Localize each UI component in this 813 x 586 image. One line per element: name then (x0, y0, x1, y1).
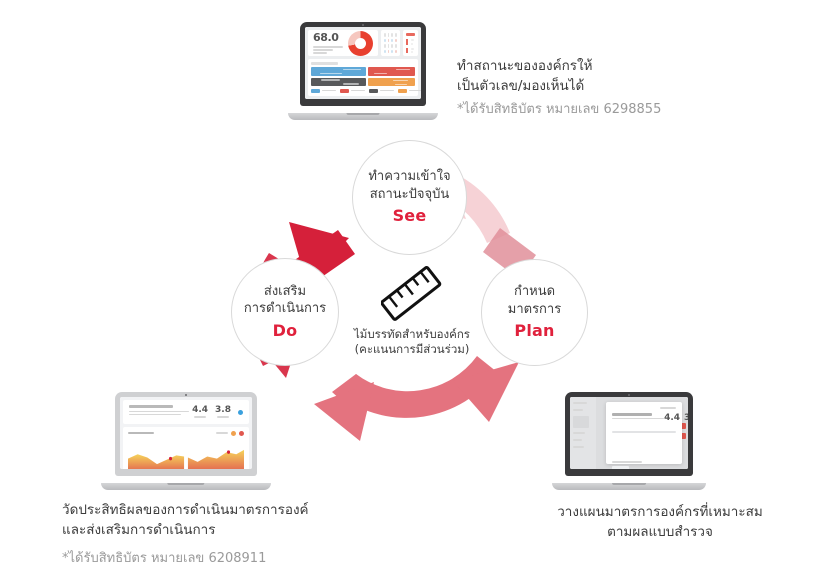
metric-value: 4.4 (192, 405, 208, 415)
caption-bottom-right: วางแผนมาตรการองค์กรที่เหมาะสม ตามผลแบบสำ… (520, 503, 800, 542)
cycle-node-see[interactable]: ทำความเข้าใจ สถานะปัจจุบัน See (352, 140, 467, 255)
chart-card (123, 427, 249, 469)
status-dot (238, 410, 243, 415)
node-plan-line1: กำหนด (514, 283, 555, 301)
screen-survey-modal: 4.4 3.8 (570, 397, 688, 469)
node-see-line1: ทำความเข้าใจ (368, 168, 450, 186)
metric-value: 3.8 (684, 413, 688, 423)
node-plan-line2: มาตรการ (508, 301, 561, 319)
node-plan-label: Plan (514, 320, 554, 342)
arrow-plan-to-do (292, 356, 519, 441)
node-do-line2: การดำเนินการ (244, 300, 326, 318)
laptop-mockup-bottom-left: 4.4 3.8 (101, 392, 271, 490)
center-caption: ไม้บรรทัดสำหรับองค์กร (คะแนนการมีส่วนร่ว… (354, 327, 470, 357)
cycle-node-do[interactable]: ส่งเสริม การดำเนินการ Do (231, 258, 339, 366)
laptop-mockup-bottom-right: 4.4 3.8 (552, 392, 706, 490)
tag-pill (612, 466, 629, 469)
node-do-label: Do (273, 320, 298, 342)
laptop-base (101, 483, 271, 490)
metric-value: 4.4 (664, 413, 680, 423)
ruler-icon (381, 266, 443, 324)
caption-bottom-left: วัดประสิทธิผลของการดำเนินมาตรการองค์ และ… (62, 501, 309, 540)
modal-dialog: 4.4 3.8 (606, 402, 681, 464)
cycle-node-plan[interactable]: กำหนด มาตรการ Plan (481, 259, 588, 366)
center-measure-group: ไม้บรรทัดสำหรับองค์กร (คะแนนการมีส่วนร่ว… (337, 266, 487, 357)
area-chart (128, 439, 244, 469)
node-see-label: See (393, 205, 427, 227)
webcam-dot (185, 394, 187, 396)
metric-group: 4.4 3.8 (192, 405, 243, 419)
summary-card: 4.4 3.8 (123, 400, 249, 424)
diagram-canvas: 68.0 (0, 0, 813, 586)
laptop-base (552, 483, 706, 490)
screen-area-chart: 4.4 3.8 (120, 397, 252, 469)
node-see-line2: สถานะปัจจุบัน (370, 186, 450, 204)
metric-value: 3.8 (215, 405, 231, 415)
text-input[interactable] (612, 431, 675, 433)
node-do-line1: ส่งเสริม (264, 283, 306, 301)
laptop-lid: 4.4 3.8 (565, 392, 693, 476)
laptop-lid: 4.4 3.8 (115, 392, 257, 476)
nav-sidebar (570, 397, 596, 469)
webcam-dot (628, 394, 630, 396)
caption-bottom-left-note: *ได้รับสิทธิบัตร หมายเลข 6208911 (62, 550, 266, 569)
